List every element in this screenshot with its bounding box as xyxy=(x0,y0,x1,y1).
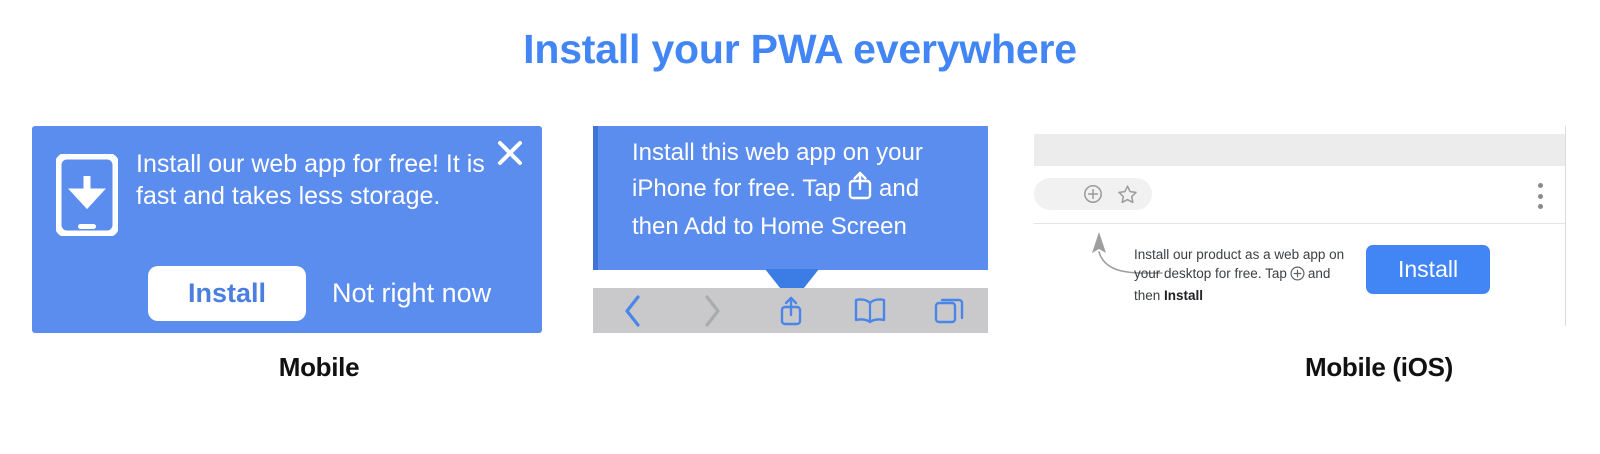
desktop-prompt-message: Install our product as a web app on your… xyxy=(1134,245,1359,305)
panel-mobile: Install our web app for free! It is fast… xyxy=(32,126,542,333)
share-icon[interactable] xyxy=(751,294,830,328)
bookmarks-book-icon[interactable] xyxy=(830,296,909,326)
not-right-now-button[interactable]: Not right now xyxy=(332,278,491,309)
mobile-install-banner: Install our web app for free! It is fast… xyxy=(32,126,542,333)
forward-icon[interactable] xyxy=(672,294,751,328)
browser-omnibar xyxy=(1034,166,1565,224)
panel-desktop: Install our product as a web app on your… xyxy=(1034,126,1566,326)
omnibox[interactable] xyxy=(1034,178,1152,210)
panel-caption-mobile: Mobile xyxy=(64,352,574,383)
share-icon xyxy=(847,170,873,210)
phone-download-icon xyxy=(56,154,118,236)
bookmark-star-icon[interactable] xyxy=(1117,184,1138,205)
mobile-banner-actions: Install Not right now xyxy=(148,266,491,321)
panel-mobile-ios: Install this web app on your iPhone for … xyxy=(590,126,988,333)
kebab-dot-3 xyxy=(1538,204,1543,209)
ios-bottom-toolbar xyxy=(593,288,988,333)
panels-container: Install our web app for free! It is fast… xyxy=(0,126,1600,426)
kebab-menu-icon[interactable] xyxy=(1537,183,1543,209)
plus-circle-icon xyxy=(1290,266,1305,286)
ios-tooltip-message: Install this web app on your iPhone for … xyxy=(632,136,972,244)
desktop-install-prompt: Install our product as a web app on your… xyxy=(1034,225,1565,326)
desktop-prompt-text-bold: Install xyxy=(1164,288,1203,303)
install-button[interactable]: Install xyxy=(148,266,306,321)
desktop-browser-frame: Install our product as a web app on your… xyxy=(1034,126,1566,326)
kebab-dot-1 xyxy=(1538,183,1543,188)
install-button[interactable]: Install xyxy=(1366,245,1490,294)
back-icon[interactable] xyxy=(593,294,672,328)
tabs-icon[interactable] xyxy=(909,295,988,327)
ios-safari-frame: Install this web app on your iPhone for … xyxy=(590,126,988,333)
browser-tabstrip xyxy=(1034,134,1565,166)
ios-tooltip-left-edge xyxy=(593,126,598,278)
mobile-banner-message: Install our web app for free! It is fast… xyxy=(136,148,506,212)
install-plus-circle-icon[interactable] xyxy=(1083,184,1103,204)
close-icon[interactable] xyxy=(495,138,525,168)
page-title: Install your PWA everywhere xyxy=(0,26,1600,73)
panel-caption-mobile-ios: Mobile (iOS) xyxy=(1180,352,1578,383)
kebab-dot-2 xyxy=(1538,194,1543,199)
